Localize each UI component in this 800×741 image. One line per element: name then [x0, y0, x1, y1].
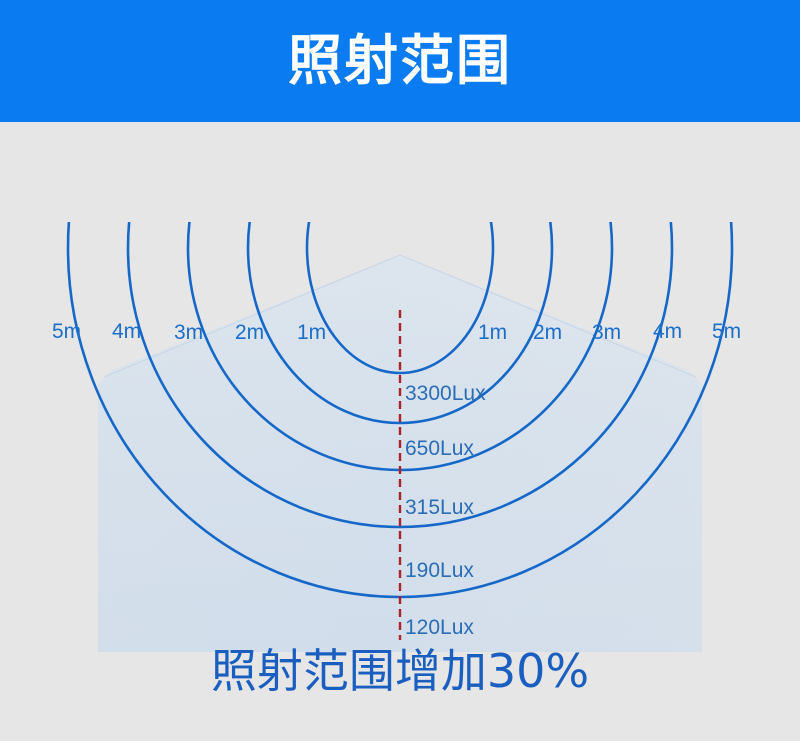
distance-label-left-1m: 1m [297, 322, 326, 343]
illumination-diagram: 5m 4m 3m 2m 1m 1m 2m 3m 4m 5m 3300Lux 65… [0, 122, 800, 652]
floor-left-facet [98, 255, 400, 652]
distance-label-left-3m: 3m [174, 322, 203, 343]
page-title: 照射范围 [288, 34, 512, 88]
lux-label-650: 650Lux [405, 438, 474, 459]
lux-label-120: 120Lux [405, 617, 474, 638]
distance-label-right-2m: 2m [533, 322, 562, 343]
footer-caption: 照射范围增加30% [0, 648, 800, 694]
distance-label-left-5m: 5m [52, 321, 81, 342]
distance-label-left-2m: 2m [235, 322, 264, 343]
page-root: 照射范围 [0, 0, 800, 741]
illumination-diagram-svg [0, 122, 800, 652]
distance-label-left-4m: 4m [112, 321, 141, 342]
header-banner: 照射范围 [0, 0, 800, 122]
distance-label-right-4m: 4m [653, 321, 682, 342]
distance-label-right-5m: 5m [712, 321, 741, 342]
distance-label-right-1m: 1m [478, 322, 507, 343]
lux-label-315: 315Lux [405, 497, 474, 518]
lux-label-190: 190Lux [405, 560, 474, 581]
distance-label-right-3m: 3m [592, 322, 621, 343]
lux-label-3300: 3300Lux [405, 383, 486, 404]
